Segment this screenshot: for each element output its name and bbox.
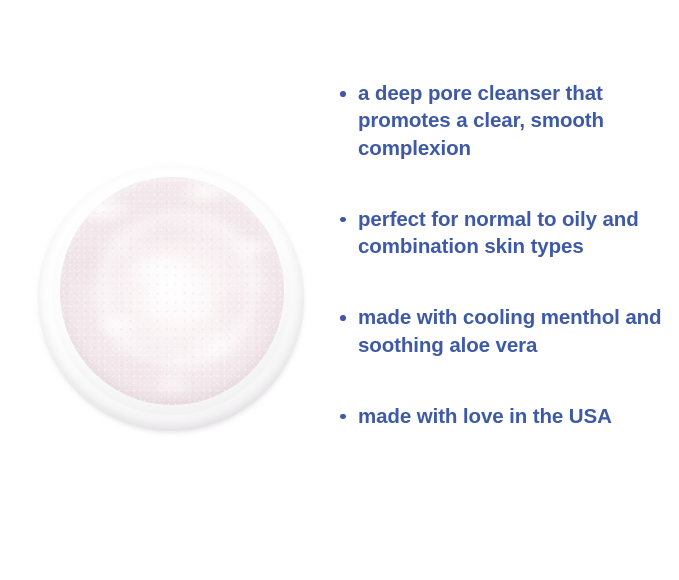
benefit-text-2: perfect for normal to oily and combinati… — [358, 206, 679, 261]
bullet-dot-icon — [340, 414, 346, 420]
bullet-dot-icon — [340, 91, 346, 97]
benefits-list: a deep pore cleanser that promotes a cle… — [334, 80, 679, 430]
powder-fill — [60, 177, 284, 405]
benefit-item-2: perfect for normal to oily and combinati… — [334, 206, 679, 261]
jar-rim — [38, 165, 304, 431]
benefit-item-1: a deep pore cleanser that promotes a cle… — [334, 80, 679, 162]
benefit-text-1: a deep pore cleanser that promotes a cle… — [358, 80, 679, 162]
bullet-dot-icon — [340, 217, 346, 223]
product-feature-graphic: a deep pore cleanser that promotes a cle… — [0, 0, 679, 580]
benefit-text-4: made with love in the USA — [358, 403, 679, 430]
benefit-item-3: made with cooling menthol and soothing a… — [334, 304, 679, 359]
product-photo — [38, 165, 304, 433]
bullet-dot-icon — [340, 315, 346, 321]
powder-swirl-texture — [98, 213, 258, 366]
powder-center-peak — [145, 264, 212, 328]
benefit-item-4: made with love in the USA — [334, 403, 679, 430]
benefit-text-3: made with cooling menthol and soothing a… — [358, 304, 679, 359]
